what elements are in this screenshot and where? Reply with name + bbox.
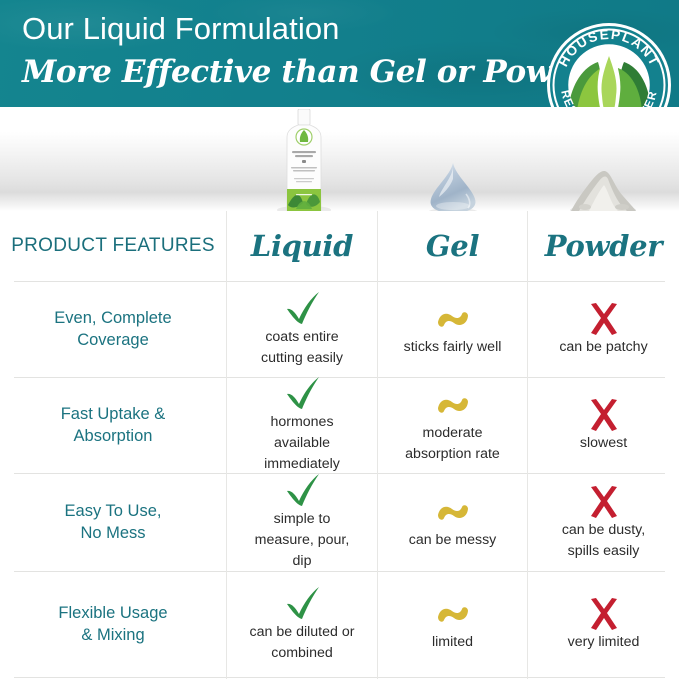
verdict-caption-line1: can be patchy [553,338,653,357]
feature-label-line1: Fast Uptake & [61,404,166,426]
feature-label-line1: Flexible Usage [58,603,167,625]
verdict-cell-powder: very limited [528,572,679,677]
verdict-caption-line1: simple to [268,510,337,529]
cross-icon [585,597,623,631]
feature-label-line2: No Mess [80,523,145,545]
cross-icon [585,398,623,432]
verdict-cell-gel: limited [378,572,527,677]
cross-icon [585,302,623,336]
verdict-cell-powder: can be patchy [528,282,679,377]
verdict-caption-line1: slowest [574,434,633,453]
verdict-caption-line2: combined [265,644,339,663]
check-icon [283,474,321,508]
feature-label: Even, Complete Coverage [0,282,226,377]
tilde-icon [434,302,472,336]
feature-label: Flexible Usage & Mixing [0,572,226,677]
verdict-caption-line1: can be dusty, [556,521,651,540]
verdict-caption-line2: spills easily [562,542,646,561]
column-header-liquid: Liquid [227,211,377,281]
verdict-cell-gel: can be messy [378,474,527,571]
column-header-powder: Powder [528,211,679,281]
verdict-caption-line2: available [268,434,336,453]
header-banner: Our Liquid Formulation More Effective th… [0,0,679,107]
tilde-icon [434,495,472,529]
gel-drop-image [420,162,486,217]
banner-title-line1: Our Liquid Formulation [22,11,340,47]
check-icon [283,587,321,621]
feature-label-line2: Absorption [74,426,153,448]
feature-label: Easy To Use, No Mess [0,474,226,571]
feature-label-line1: Even, Complete [54,308,171,330]
liquid-bottle-image [276,109,332,215]
banner-title-line2: More Effective than Gel or Powder [22,54,609,90]
cross-icon [585,485,623,519]
verdict-caption-line2: absorption rate [399,445,506,464]
verdict-caption-line1: sticks fairly well [398,338,508,357]
feature-label-line1: Easy To Use, [65,501,162,523]
tilde-icon [434,388,472,422]
comparison-table: PRODUCT FEATURES Liquid Gel Powder Even,… [0,211,679,679]
verdict-cell-liquid: hormones available immediately [227,378,377,473]
verdict-caption-line1: very limited [562,633,646,652]
verdict-caption-line2: measure, pour, [249,531,356,550]
verdict-cell-liquid: simple to measure, pour, dip [227,474,377,571]
check-icon [283,292,321,326]
verdict-cell-gel: sticks fairly well [378,282,527,377]
column-header-gel: Gel [378,211,527,281]
column-header-features: PRODUCT FEATURES [0,211,226,281]
verdict-cell-liquid: can be diluted or combined [227,572,377,677]
verdict-caption-line1: coats entire [259,328,344,347]
tilde-icon [434,597,472,631]
verdict-caption-line3: dip [287,552,318,571]
verdict-cell-liquid: coats entire cutting easily [227,282,377,377]
verdict-cell-gel: moderate absorption rate [378,378,527,473]
verdict-caption-line1: moderate [417,424,489,443]
feature-label-line2: & Mixing [81,625,144,647]
verdict-caption-line1: can be diluted or [244,623,361,642]
houseplant-resource-center-logo: HOUSEPLANT RESOURCE CENTER [546,22,672,107]
verdict-caption-line3: immediately [258,455,346,474]
powder-pile-image [565,163,641,217]
verdict-cell-powder: slowest [528,378,679,473]
verdict-cell-powder: can be dusty, spills easily [528,474,679,571]
feature-label: Fast Uptake & Absorption [0,378,226,473]
row-divider [14,677,665,678]
verdict-caption-line2: cutting easily [255,349,349,368]
verdict-caption-line1: can be messy [403,531,503,550]
verdict-caption-line1: limited [426,633,479,652]
verdict-caption-line1: hormones [264,413,339,432]
feature-label-line2: Coverage [77,330,149,352]
product-images-shelf [0,107,679,211]
check-icon [283,377,321,411]
